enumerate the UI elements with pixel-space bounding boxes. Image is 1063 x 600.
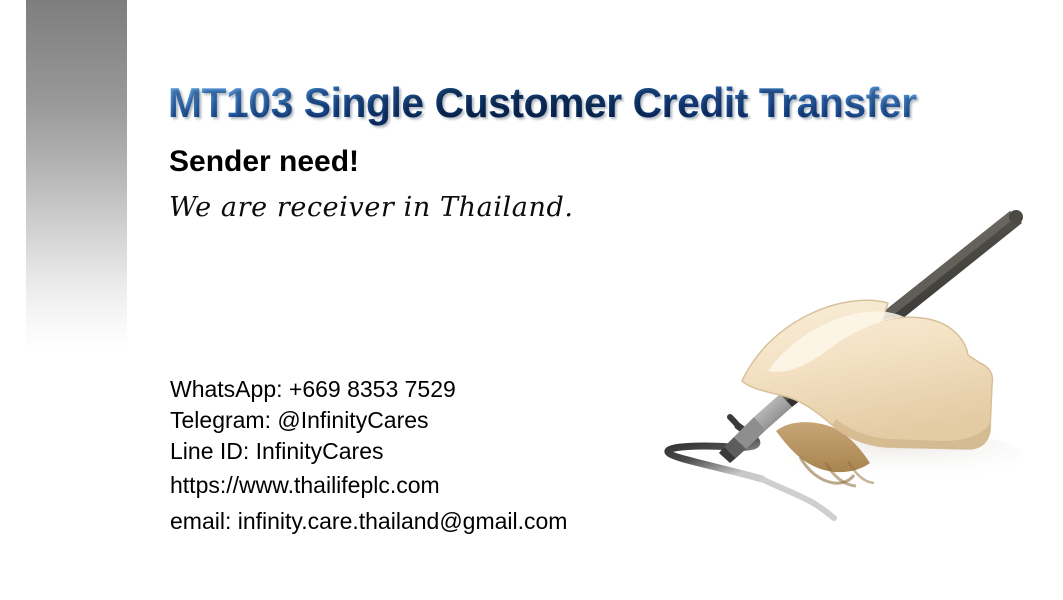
signature-squiggle-upper [730, 417, 738, 426]
script-note-text: We are receiver in Thailand. [169, 192, 574, 223]
left-gradient-bar [26, 0, 127, 350]
hand-writing-icon [650, 195, 1050, 525]
subheading-text: Sender need! [169, 145, 359, 179]
page-title-text: MT103 Single Customer Credit Transfer [168, 79, 917, 126]
signature-squiggle-lower [762, 479, 834, 518]
page-title: MT103 Single Customer Credit Transfer MT… [168, 76, 917, 130]
slide-canvas: MT103 Single Customer Credit Transfer MT… [0, 0, 1063, 600]
contact-line-whatsapp: WhatsApp: +669 8353 7529 [170, 374, 690, 405]
contact-info-block: WhatsApp: +669 8353 7529 Telegram: @Infi… [170, 374, 690, 539]
contact-line-website[interactable]: https://www.thailifeplc.com [170, 467, 690, 503]
contact-line-lineid: Line ID: InfinityCares [170, 436, 690, 467]
contact-line-email[interactable]: email: infinity.care.thailand@gmail.com [170, 503, 690, 539]
contact-line-telegram: Telegram: @InfinityCares [170, 405, 690, 436]
